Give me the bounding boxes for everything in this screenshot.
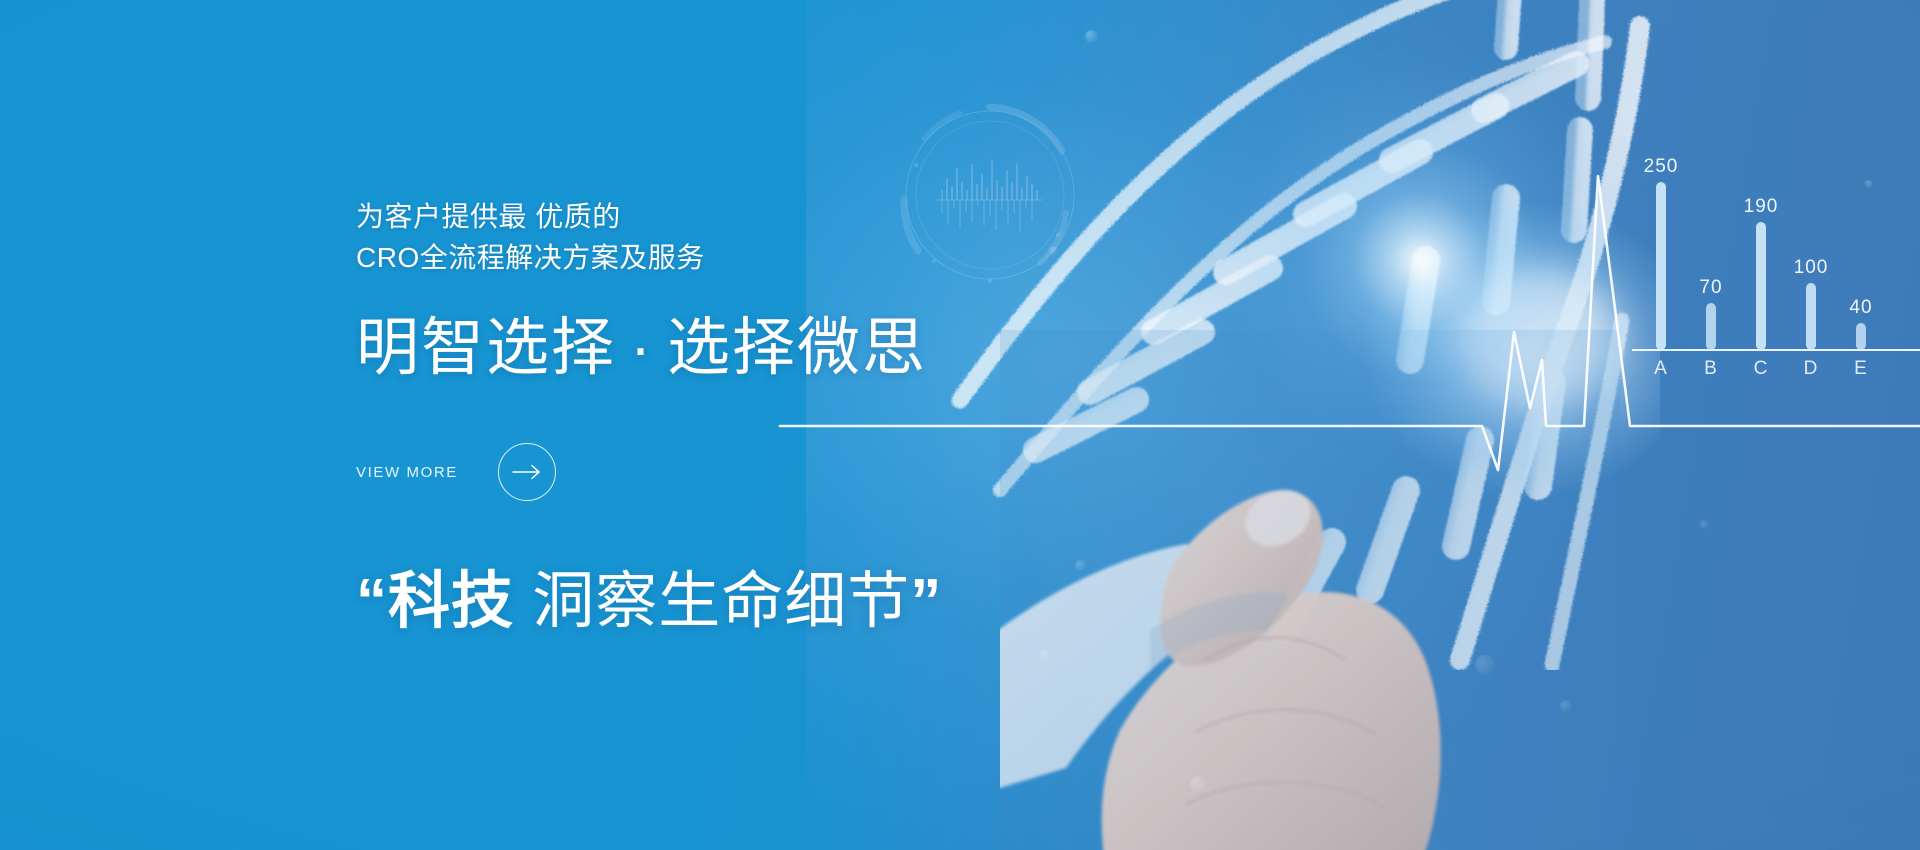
headline-separator: · [616, 313, 667, 383]
hero-quote: “科技 洞察生命细节” [356, 567, 1116, 636]
headline-part-2: 选择微思 [667, 313, 927, 383]
hero-content: 为客户提供最 优质的 CRO全流程解决方案及服务 明智选择·选择微思 VIEW … [356, 196, 1116, 637]
arrow-right-icon [512, 464, 542, 480]
hero-headline: 明智选择·选择微思 [356, 314, 1116, 383]
quote-rest-text: 洞察生命细节 [514, 567, 910, 636]
quote-open-mark: “ [356, 567, 388, 636]
hero-subtitle-line1: 为客户提供最 优质的 [356, 196, 1116, 237]
hero-banner: 250 70 190 100 40 A B C D E 为客户提供最 优质的 C… [0, 0, 1920, 850]
quote-strong-text: 科技 [388, 567, 514, 636]
quote-close-mark: ” [910, 567, 942, 636]
headline-part-1: 明智选择 [356, 313, 616, 383]
view-more-button[interactable]: VIEW MORE [356, 443, 531, 501]
view-more-circle[interactable] [498, 443, 556, 501]
view-more-label: VIEW MORE [356, 464, 458, 481]
hero-subtitle-line2: CRO全流程解决方案及服务 [356, 237, 1116, 278]
